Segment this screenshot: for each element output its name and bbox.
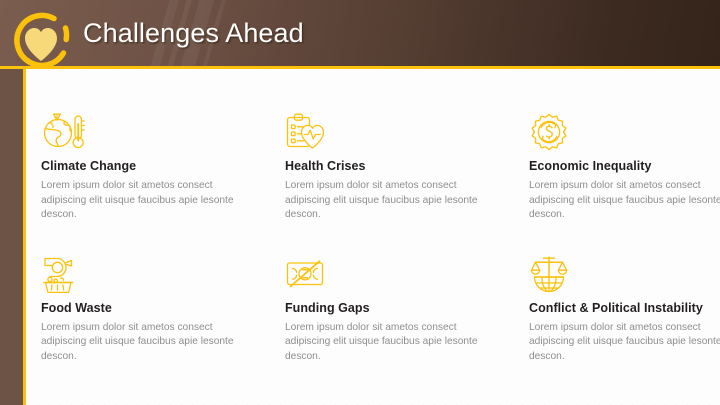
card-description: Lorem ipsum dolor sit ametos consect adi… bbox=[529, 179, 720, 223]
food-waste-bin-icon bbox=[41, 254, 251, 294]
card-title: Food Waste bbox=[41, 301, 251, 315]
heart-in-ring-logo bbox=[8, 8, 76, 76]
card-description: Lorem ipsum dolor sit ametos consect adi… bbox=[285, 179, 495, 223]
globe-thermometer-warning-icon bbox=[41, 112, 251, 152]
card-description: Lorem ipsum dolor sit ametos consect adi… bbox=[285, 321, 495, 365]
challenge-card-health-crises: Health Crises Lorem ipsum dolor sit amet… bbox=[285, 112, 495, 223]
banknote-prohibited-icon bbox=[285, 254, 495, 294]
challenge-card-food-waste: Food Waste Lorem ipsum dolor sit ametos … bbox=[41, 254, 251, 365]
slide-canvas: Challenges Ahead bbox=[0, 0, 720, 405]
card-title: Climate Change bbox=[41, 159, 251, 173]
card-title: Funding Gaps bbox=[285, 301, 495, 315]
clipboard-heart-pulse-icon bbox=[285, 112, 495, 152]
header-gold-divider bbox=[0, 66, 720, 69]
card-title: Conflict & Political Instability bbox=[529, 301, 720, 315]
card-description: Lorem ipsum dolor sit ametos consect adi… bbox=[529, 321, 720, 365]
challenge-card-funding-gaps: Funding Gaps Lorem ipsum dolor sit ameto… bbox=[285, 254, 495, 365]
card-description: Lorem ipsum dolor sit ametos consect adi… bbox=[41, 321, 251, 365]
challenge-card-climate-change: Climate Change Lorem ipsum dolor sit ame… bbox=[41, 112, 251, 223]
page-title: Challenges Ahead bbox=[83, 18, 304, 49]
challenge-card-economic-inequality: Economic Inequality Lorem ipsum dolor si… bbox=[529, 112, 720, 223]
challenge-card-conflict-political-instability: Conflict & Political Instability Lorem i… bbox=[529, 254, 720, 365]
scales-globe-icon bbox=[529, 254, 720, 294]
card-description: Lorem ipsum dolor sit ametos consect adi… bbox=[41, 179, 251, 223]
card-title: Health Crises bbox=[285, 159, 495, 173]
left-gold-accent-rule bbox=[23, 58, 26, 405]
gear-dollar-arrows-icon bbox=[529, 112, 720, 152]
card-title: Economic Inequality bbox=[529, 159, 720, 173]
challenges-grid: Climate Change Lorem ipsum dolor sit ame… bbox=[41, 112, 701, 365]
